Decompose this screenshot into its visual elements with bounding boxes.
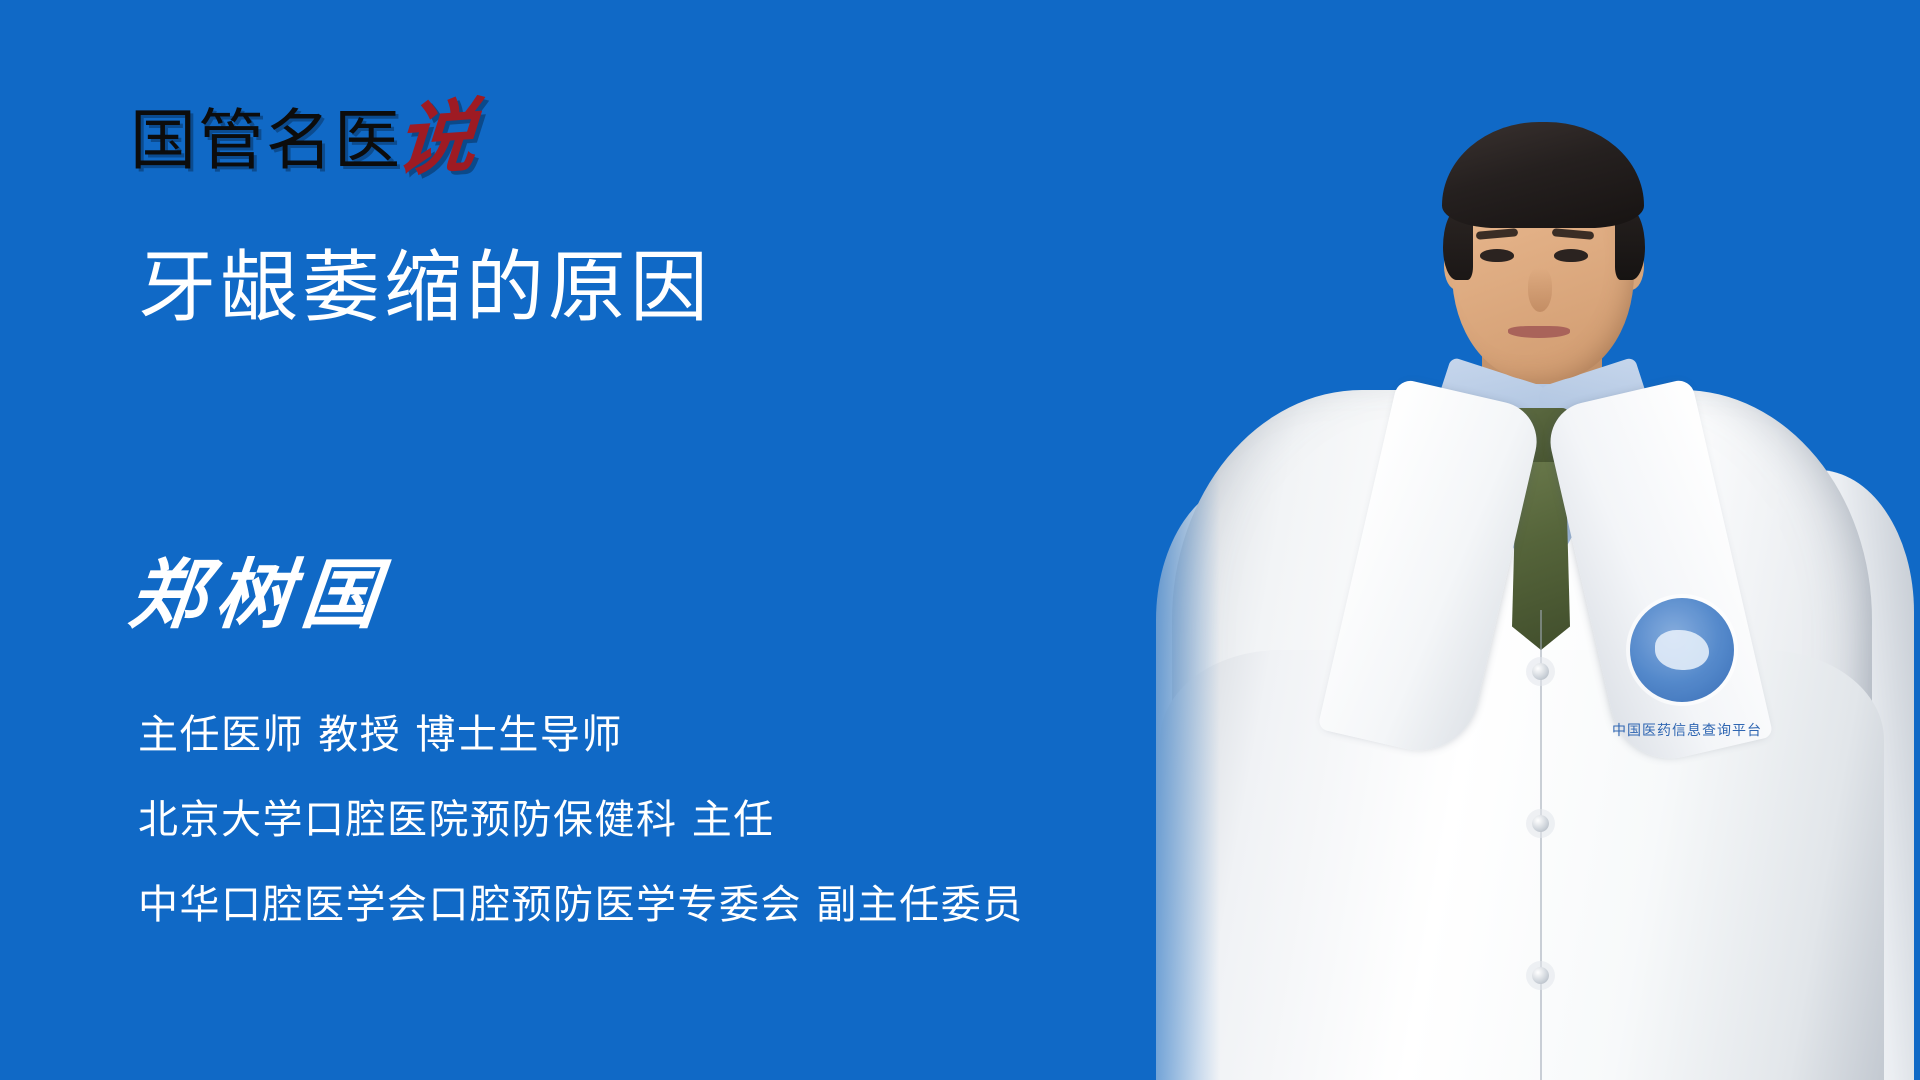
eye-left [1480, 249, 1514, 262]
nose [1528, 268, 1552, 312]
credential-line: 主任医师 教授 博士生导师 [138, 712, 1024, 758]
hair [1442, 122, 1644, 228]
portrait-edge-blend [1100, 0, 1220, 1080]
eye-right [1554, 249, 1588, 262]
platform-emblem-icon [1630, 598, 1734, 702]
episode-title: 牙龈萎缩的原因 [138, 242, 712, 334]
doctor-credentials: 主任医师 教授 博士生导师 北京大学口腔医院预防保健科 主任 中华口腔医学会口腔… [138, 712, 1024, 928]
title-card: 国管名医 说 牙龈萎缩的原因 郑树国 主任医师 教授 博士生导师 北京大学口腔医… [0, 0, 1920, 1080]
coat-button [1532, 663, 1549, 680]
emblem-map-shape [1655, 630, 1709, 670]
credential-line: 中华口腔医学会口腔预防医学专委会 副主任委员 [138, 882, 1024, 928]
coat-button [1532, 967, 1549, 984]
brand-logo: 国管名医 说 [130, 88, 476, 174]
coat-shoulders [1160, 650, 1884, 1080]
coat-placket-seam [1540, 610, 1542, 1080]
brand-logo-main-text: 国管名医 [130, 108, 402, 174]
doctor-name: 郑树国 [125, 552, 392, 638]
doctor-portrait: 中国医药信息查询平台 [1160, 0, 1920, 1080]
coat-button [1532, 815, 1549, 832]
credential-line: 北京大学口腔医院预防保健科 主任 [138, 797, 1024, 843]
platform-emblem-caption: 中国医药信息查询平台 [1612, 720, 1762, 740]
mouth [1508, 326, 1570, 338]
brand-logo-accent-text: 说 [393, 99, 479, 176]
